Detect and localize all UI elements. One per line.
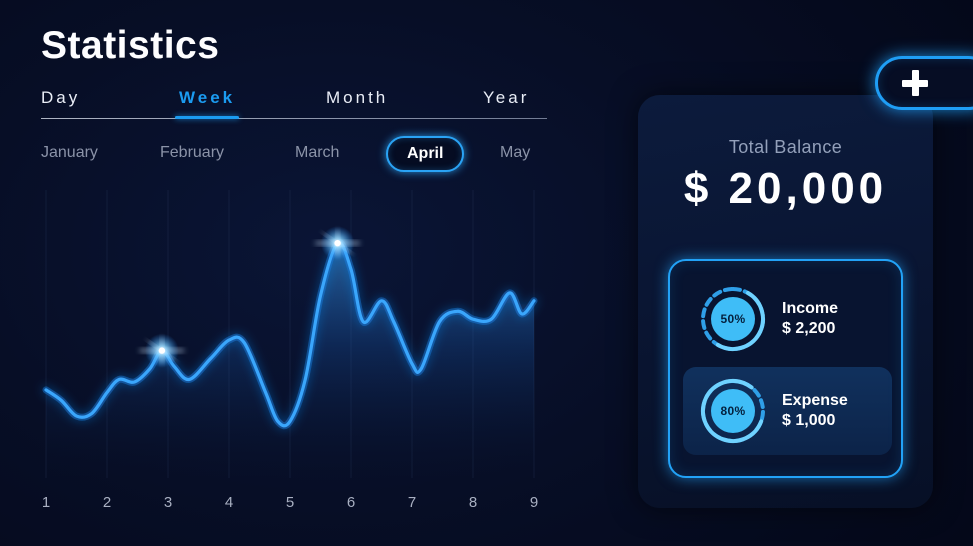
tabs-active-underline: [175, 116, 239, 119]
x-tick-label: 1: [42, 494, 50, 511]
income-value: $ 2,200: [782, 319, 838, 339]
plus-icon: [902, 70, 928, 96]
income-text: Income $ 2,200: [782, 299, 838, 338]
tabs-underline: [41, 118, 547, 119]
income-row[interactable]: 50% Income $ 2,200: [683, 275, 892, 363]
page-title: Statistics: [41, 24, 219, 68]
x-tick-label: 3: [164, 494, 172, 511]
add-button[interactable]: [875, 56, 973, 110]
income-donut-icon: 50%: [697, 283, 769, 355]
x-tick-label: 7: [408, 494, 416, 511]
expense-donut-icon: 80%: [697, 375, 769, 447]
balance-panel: Total Balance $ 20,000 50% Income $ 2,20…: [638, 95, 933, 508]
x-tick-label: 4: [225, 494, 233, 511]
app-root: Statistics DayWeekMonthYear JanuaryFebru…: [0, 0, 973, 546]
x-tick-label: 2: [103, 494, 111, 511]
statistics-chart: [20, 186, 560, 486]
month-selector: JanuaryFebruaryMarchAprilMay: [41, 138, 561, 176]
month-chip-april[interactable]: April: [386, 136, 464, 172]
expense-percent: 80%: [697, 375, 769, 447]
month-chip-may[interactable]: May: [500, 144, 530, 162]
range-tab-year[interactable]: Year: [483, 88, 529, 108]
expense-text: Expense $ 1,000: [782, 391, 848, 430]
breakdown-card: 50% Income $ 2,200 80%: [668, 259, 903, 478]
expense-value: $ 1,000: [782, 411, 848, 431]
income-title: Income: [782, 299, 838, 319]
chart-x-axis: 123456789: [20, 494, 560, 518]
range-tab-week[interactable]: Week: [179, 88, 235, 108]
month-chip-january[interactable]: January: [41, 144, 98, 162]
total-balance-amount: $ 20,000: [638, 164, 933, 214]
month-chip-february[interactable]: February: [160, 144, 224, 162]
sparkle-left-icon: [140, 334, 184, 368]
x-tick-label: 6: [347, 494, 355, 511]
range-tab-day[interactable]: Day: [41, 88, 80, 108]
x-tick-label: 5: [286, 494, 294, 511]
income-percent: 50%: [697, 283, 769, 355]
expense-row[interactable]: 80% Expense $ 1,000: [683, 367, 892, 455]
total-balance-label: Total Balance: [638, 137, 933, 158]
sparkle-peak-icon: [316, 226, 360, 260]
range-tabs: DayWeekMonthYear: [41, 88, 547, 124]
month-chip-march[interactable]: March: [295, 144, 339, 162]
expense-title: Expense: [782, 391, 848, 411]
x-tick-label: 9: [530, 494, 538, 511]
x-tick-label: 8: [469, 494, 477, 511]
range-tab-month[interactable]: Month: [326, 88, 388, 108]
chart-svg: [20, 186, 560, 486]
